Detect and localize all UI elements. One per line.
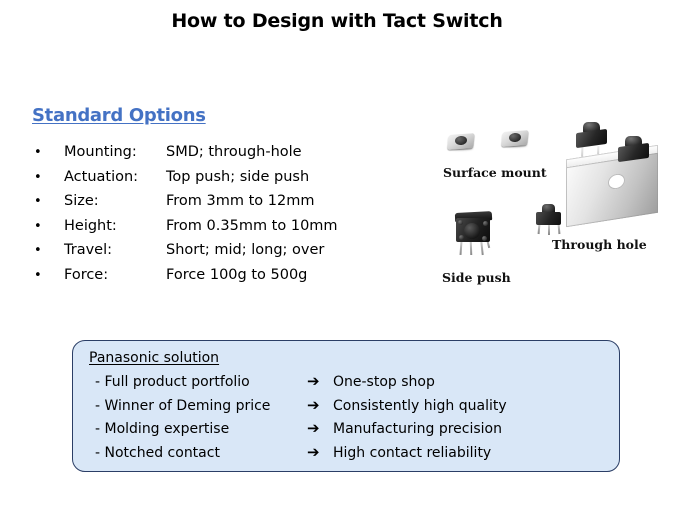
callout-benefit: Consistently high quality — [333, 398, 609, 414]
arrow-right-icon: ➔ — [307, 421, 333, 436]
bullet-icon: • — [34, 195, 64, 208]
switch-button — [464, 223, 480, 239]
through-hole-switch-photo-a — [576, 122, 608, 148]
through-hole-switch-photo-b — [618, 136, 650, 162]
switch-lead — [470, 241, 472, 255]
spec-value: Top push; side push — [166, 169, 414, 185]
spec-value: From 3mm to 12mm — [166, 193, 414, 209]
product-photo-collage: Surface mount Side push — [424, 122, 674, 302]
through-hole-bracket-assembly-photo — [552, 122, 670, 234]
list-item: - Full product portfolio ➔ One-stop shop — [95, 374, 609, 398]
arrow-right-icon: ➔ — [307, 374, 333, 389]
switch-nub — [482, 236, 487, 241]
list-item: - Notched contact ➔ High contact reliabi… — [95, 445, 609, 469]
smd-switch-photo-left — [446, 130, 476, 152]
spec-label: Mounting: — [64, 144, 166, 160]
list-item: • Height: From 0.35mm to 10mm — [34, 218, 414, 243]
spec-list: • Mounting: SMD; through-hole • Actuatio… — [34, 144, 414, 291]
list-item: - Winner of Deming price ➔ Consistently … — [95, 398, 609, 422]
callout-row-list: - Full product portfolio ➔ One-stop shop… — [95, 374, 609, 468]
spec-value: From 0.35mm to 10mm — [166, 218, 414, 234]
bullet-icon: • — [34, 244, 64, 257]
bullet-icon: • — [34, 171, 64, 184]
switch-lead — [538, 224, 541, 234]
switch-body — [576, 129, 607, 148]
switch-body — [618, 143, 649, 162]
panasonic-solution-callout: Panasonic solution - Full product portfo… — [72, 340, 620, 472]
photo-label-side-push: Side push — [442, 270, 511, 285]
section-heading-standard-options: Standard Options — [32, 105, 206, 126]
list-item: - Molding expertise ➔ Manufacturing prec… — [95, 421, 609, 445]
spec-label: Height: — [64, 218, 166, 234]
switch-nub — [458, 220, 463, 225]
list-item: • Size: From 3mm to 12mm — [34, 193, 414, 218]
switch-nub — [483, 221, 488, 226]
list-item: • Travel: Short; mid; long; over — [34, 242, 414, 267]
slide-canvas: How to Design with Tact Switch Standard … — [0, 0, 674, 506]
bullet-icon: • — [34, 220, 64, 233]
bullet-icon: • — [34, 146, 64, 159]
bullet-icon: • — [34, 269, 64, 282]
callout-title: Panasonic solution — [89, 350, 219, 366]
list-item: • Mounting: SMD; through-hole — [34, 144, 414, 169]
list-item: • Force: Force 100g to 500g — [34, 267, 414, 292]
switch-lead — [548, 225, 550, 235]
switch-lead — [460, 241, 463, 255]
list-item: • Actuation: Top push; side push — [34, 169, 414, 194]
photo-label-through-hole: Through hole — [552, 237, 647, 252]
side-push-switch-photo — [451, 210, 497, 258]
spec-value: SMD; through-hole — [166, 144, 414, 160]
callout-feature: - Winner of Deming price — [95, 398, 307, 414]
callout-feature: - Molding expertise — [95, 421, 307, 437]
callout-benefit: High contact reliability — [333, 445, 609, 461]
switch-lead — [480, 241, 483, 255]
spec-label: Size: — [64, 193, 166, 209]
callout-benefit: One-stop shop — [333, 374, 609, 390]
arrow-right-icon: ➔ — [307, 445, 333, 460]
photo-label-surface-mount: Surface mount — [443, 165, 547, 180]
spec-label: Actuation: — [64, 169, 166, 185]
spec-value: Force 100g to 500g — [166, 267, 414, 283]
switch-nub — [459, 235, 464, 240]
callout-feature: - Notched contact — [95, 445, 307, 461]
page-title: How to Design with Tact Switch — [0, 10, 674, 32]
callout-benefit: Manufacturing precision — [333, 421, 609, 437]
spec-value: Short; mid; long; over — [166, 242, 414, 258]
spec-label: Travel: — [64, 242, 166, 258]
smd-switch-photo-right — [500, 127, 530, 149]
arrow-right-icon: ➔ — [307, 398, 333, 413]
callout-feature: - Full product portfolio — [95, 374, 307, 390]
spec-label: Force: — [64, 267, 166, 283]
